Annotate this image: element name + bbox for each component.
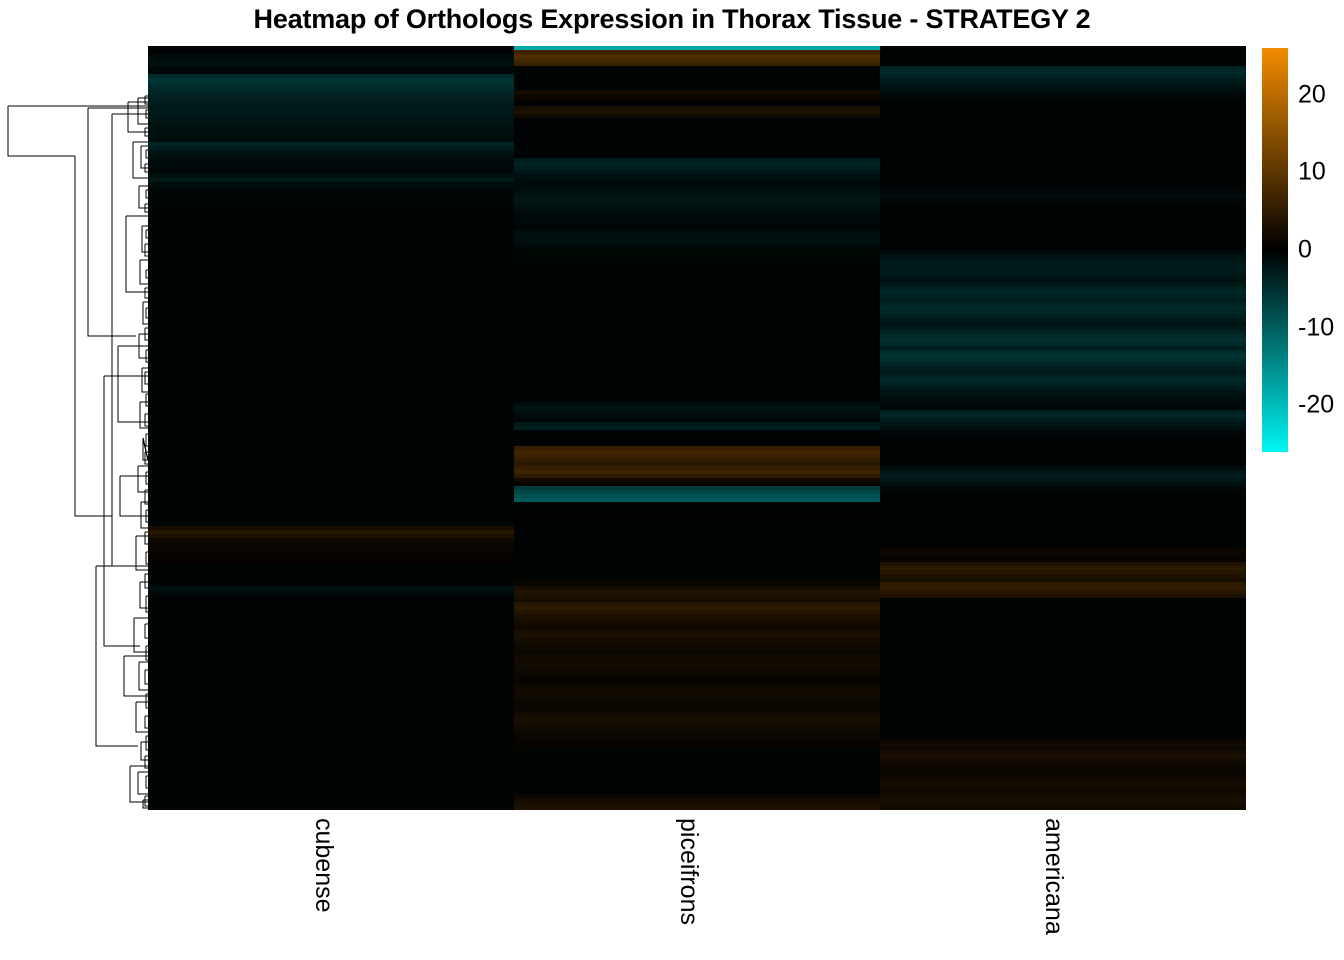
- colorbar-tick-0: 20: [1298, 80, 1326, 109]
- heatmap-column-americana[interactable]: [880, 46, 1246, 810]
- row-dendrogram-svg: [0, 46, 148, 810]
- row-dendrogram: [0, 46, 148, 810]
- colorbar-tick-2: 0: [1298, 236, 1312, 265]
- colorbar-gradient: [1262, 48, 1288, 452]
- heatmap-figure: Heatmap of Orthologs Expression in Thora…: [0, 0, 1344, 960]
- heatmap-grid[interactable]: [148, 46, 1246, 810]
- heatmap-cell[interactable]: [880, 806, 1246, 810]
- heatmap-cell[interactable]: [148, 806, 514, 810]
- column-label-cubense: cubense: [309, 818, 338, 913]
- heatmap-column-cubense[interactable]: [148, 46, 514, 810]
- column-label-piceifrons: piceifrons: [674, 818, 703, 925]
- colorbar-legend: 20100-10-20: [1262, 48, 1344, 452]
- column-label-americana: americana: [1039, 818, 1068, 935]
- colorbar-tick-1: 10: [1298, 158, 1326, 187]
- heatmap-cell[interactable]: [514, 806, 880, 810]
- colorbar-tick-3: -10: [1298, 313, 1334, 342]
- page-title: Heatmap of Orthologs Expression in Thora…: [0, 4, 1344, 35]
- heatmap-column-piceifrons[interactable]: [514, 46, 880, 810]
- colorbar-tick-4: -20: [1298, 391, 1334, 420]
